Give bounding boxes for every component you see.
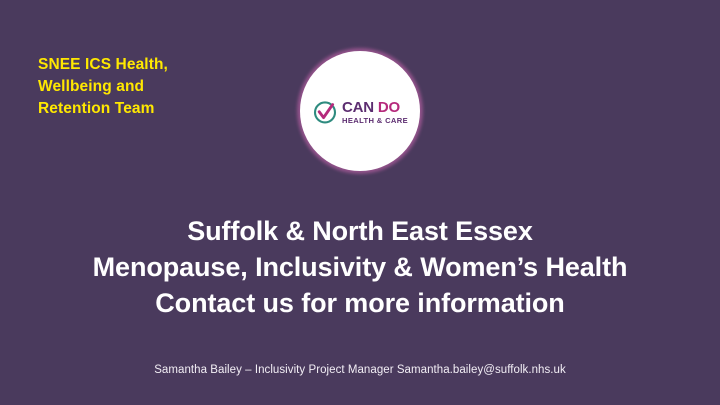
logo-circle: CAN DO HEALTH & CARE xyxy=(300,51,420,171)
team-label: SNEE ICS Health, Wellbeing and Retention… xyxy=(38,54,223,120)
logo-title: CAN DO xyxy=(342,100,408,115)
logo-text-block: CAN DO HEALTH & CARE xyxy=(342,100,408,125)
check-in-circle-icon xyxy=(312,99,338,125)
logo-inner: CAN DO HEALTH & CARE xyxy=(312,99,408,125)
logo-subtitle: HEALTH & CARE xyxy=(342,117,408,125)
logo-word-do: DO xyxy=(378,99,400,116)
logo-word-can: CAN xyxy=(342,99,374,116)
presentation-slide: SNEE ICS Health, Wellbeing and Retention… xyxy=(0,0,720,405)
contact-details: Samantha Bailey – Inclusivity Project Ma… xyxy=(60,364,660,376)
logo-container: CAN DO HEALTH & CARE xyxy=(300,51,420,171)
page-title: Suffolk & North East Essex Menopause, In… xyxy=(60,214,660,322)
